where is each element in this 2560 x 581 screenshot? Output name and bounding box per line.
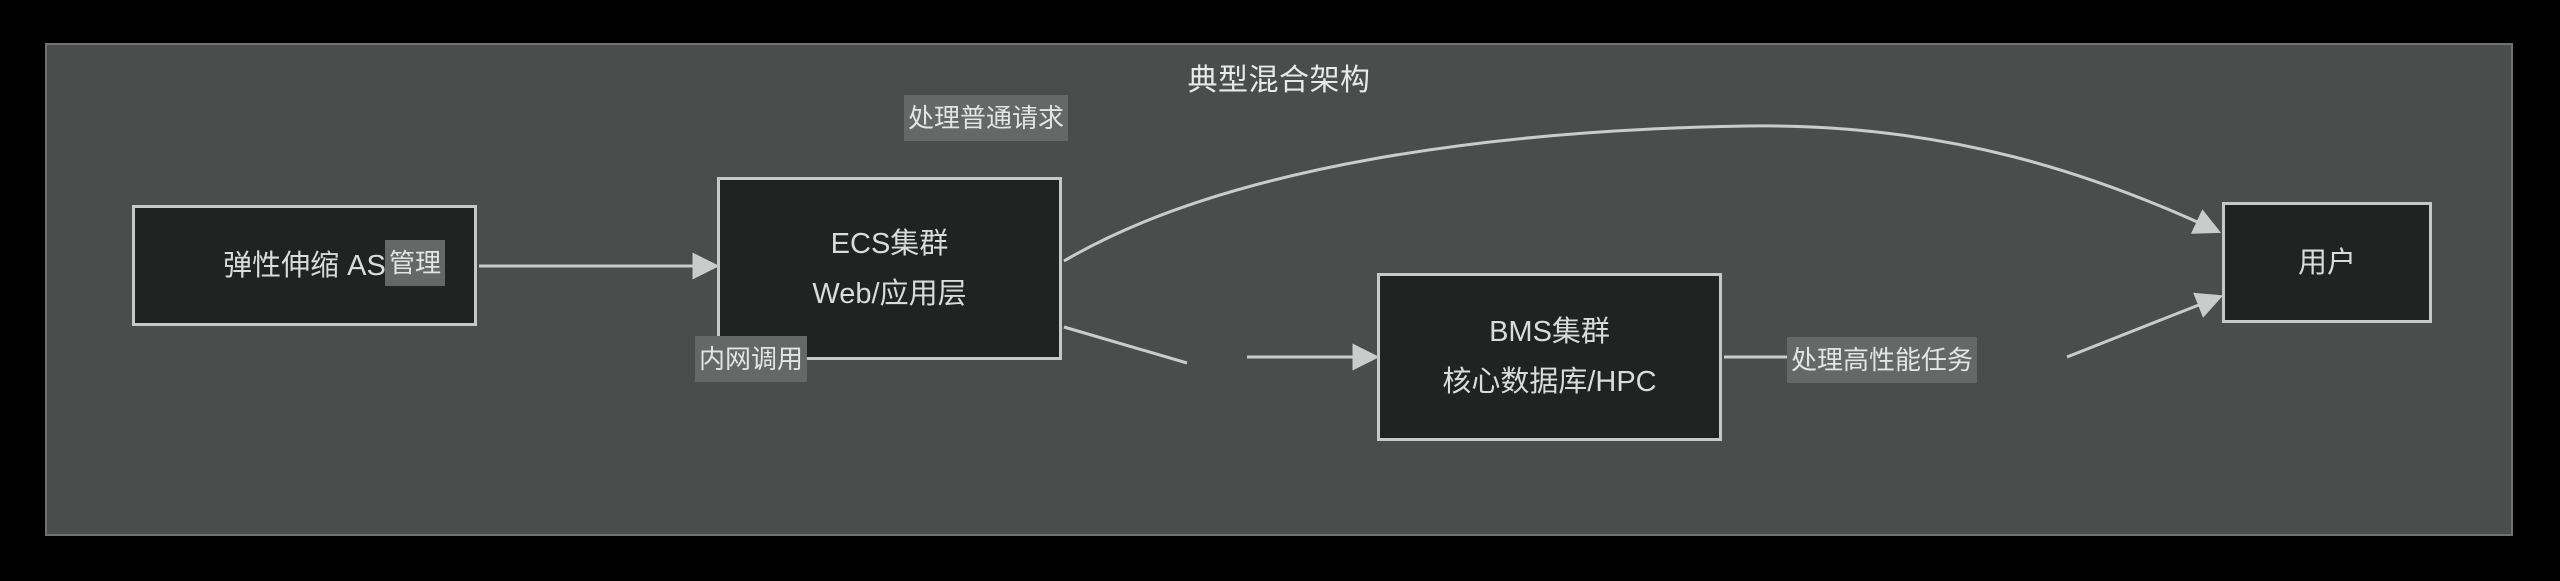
node-bms-cluster-line-2: 核心数据库/HPC <box>1442 358 1656 406</box>
diagram-title: 典型混合架构 <box>47 63 2511 99</box>
node-ecs-cluster-line-2: Web/应用层 <box>812 270 966 318</box>
edge-label-internal-call: 内网调用 <box>695 336 807 382</box>
node-bms-cluster-line-1: BMS集群 <box>1489 308 1610 356</box>
edge-ecs-to-user <box>1064 126 2217 261</box>
node-bms-cluster[interactable]: BMS集群 核心数据库/HPC <box>1377 273 1722 441</box>
node-autoscaling-line-1: 弹性伸缩 AS <box>223 242 386 290</box>
node-user[interactable]: 用户 <box>2222 202 2432 323</box>
edge-ecs-to-bms <box>1064 327 1375 363</box>
node-ecs-cluster[interactable]: ECS集群 Web/应用层 <box>717 177 1062 360</box>
edge-label-manage: 管理 <box>385 240 445 286</box>
node-user-line-1: 用户 <box>2298 239 2356 287</box>
edge-label-normal-requests: 处理普通请求 <box>904 95 1068 141</box>
node-ecs-cluster-line-1: ECS集群 <box>831 220 949 268</box>
diagram-container: 典型混合架构 <box>45 43 2513 536</box>
edge-label-hpc-tasks: 处理高性能任务 <box>1787 337 1977 383</box>
screenshot-canvas: 典型混合架构 <box>0 0 2560 581</box>
